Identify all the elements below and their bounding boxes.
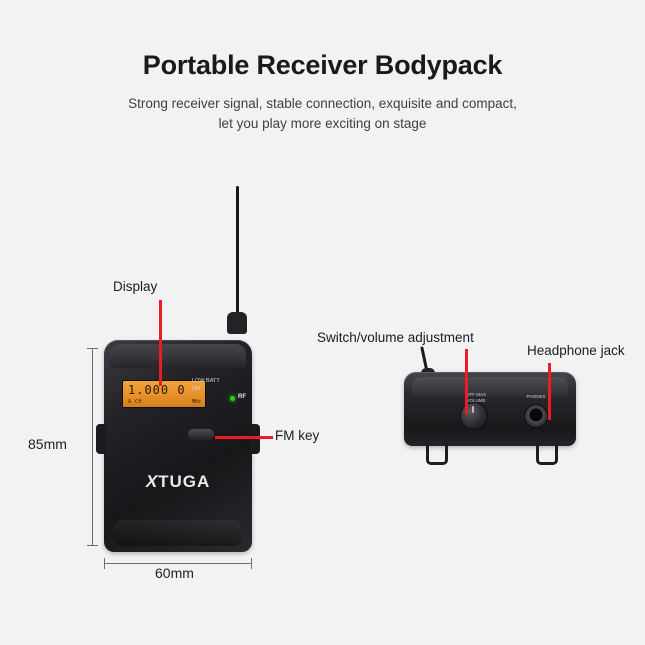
callout-display-leader [159, 300, 162, 386]
brand-logo: XTUGA [104, 472, 252, 492]
lcd-channel-label: A CH [128, 399, 142, 405]
callout-display-label: Display [113, 279, 157, 294]
brand-logo-rest: TUGA [158, 472, 210, 491]
product-infographic: Portable Receiver Bodypack Strong receiv… [0, 0, 645, 645]
height-guide-line [92, 348, 93, 546]
bodypack-front-top-bevel [110, 344, 246, 368]
side-clip-right [250, 424, 260, 454]
width-guide-cap-right [251, 558, 252, 569]
page-title: Portable Receiver Bodypack [0, 50, 645, 81]
height-dimension-label: 85mm [28, 436, 67, 452]
subtitle-line-2: let you play more exciting on stage [0, 114, 645, 134]
status-indicator-group: LOW BATT ON [192, 378, 240, 393]
height-guide-cap-bottom [87, 545, 98, 546]
antenna-base [227, 312, 247, 334]
antenna-rod [236, 186, 239, 318]
on-indicator-label: ON [192, 386, 240, 394]
low-batt-indicator-label: LOW BATT [192, 378, 240, 386]
lcd-unit-label: MHz [192, 399, 201, 405]
width-dimension-label: 60mm [155, 565, 194, 581]
bodypack-front-view: 1.000 0 A CH MHz LOW BATT ON RF XTUGA [104, 340, 252, 552]
width-guide-cap-left [104, 558, 105, 569]
rf-led-icon [230, 396, 235, 401]
phones-jack-label: PHONES [514, 394, 558, 399]
lcd-frequency-value: 1.000 0 [128, 384, 186, 397]
page-subtitle: Strong receiver signal, stable connectio… [0, 94, 645, 134]
volume-knob-pointer [472, 406, 474, 413]
callout-headphone-jack-label: Headphone jack [527, 343, 625, 358]
headphone-jack-port[interactable] [524, 404, 548, 428]
height-guide-cap-top [87, 348, 98, 349]
rf-indicator-label: RF [238, 394, 246, 400]
callout-fm-key-label: FM key [275, 428, 319, 443]
callout-switch-volume-leader [465, 349, 468, 414]
belt-clip-right [536, 442, 558, 465]
callout-switch-volume-label: Switch/volume adjustment [317, 330, 474, 345]
callout-fm-key-leader [215, 436, 273, 439]
subtitle-line-1: Strong receiver signal, stable connectio… [0, 94, 645, 114]
width-guide-line [104, 563, 252, 564]
callout-headphone-jack-leader [548, 363, 551, 420]
bodypack-front-bottom-shading [114, 520, 242, 546]
side-clip-left [96, 424, 106, 454]
belt-clip-left [426, 442, 448, 465]
fm-key-button[interactable] [188, 429, 214, 440]
